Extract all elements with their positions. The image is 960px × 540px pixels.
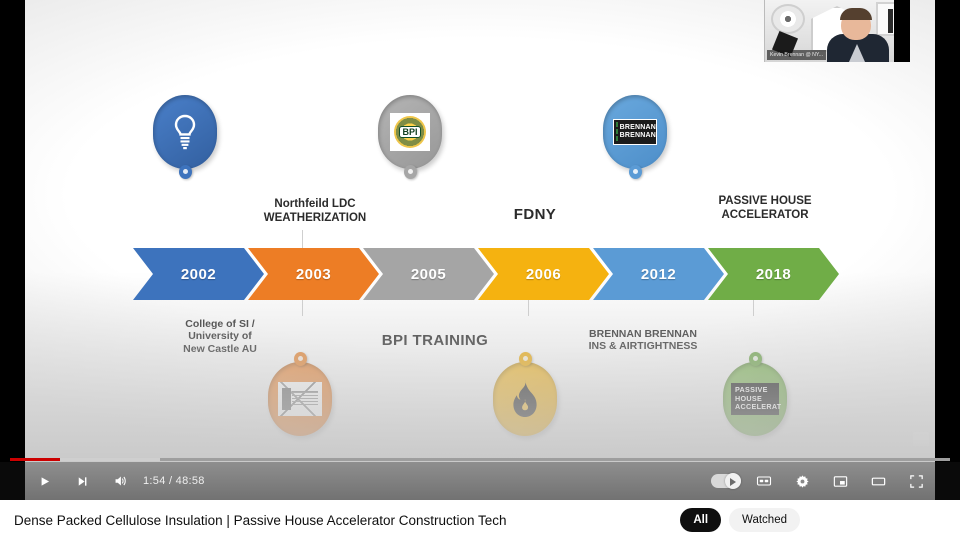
label-passive-house-accelerator: PASSIVE HOUSE ACCELERATOR	[675, 195, 855, 222]
marker-lightbulb	[153, 95, 217, 179]
timeline-year-label: 2006	[526, 266, 561, 283]
brennan-brennan-logo-icon: BRENNANBRENNAN	[611, 111, 659, 153]
passive-house-accelerator-logo-icon: PASSIVEHOUSEACCELERATOR	[729, 378, 781, 420]
marker-brennan-brennan: BRENNANBRENNAN	[603, 95, 667, 179]
presenter-name-label: Kevin Brennan @ NY...	[767, 50, 826, 60]
video-title[interactable]: Dense Packed Cellulose Insulation | Pass…	[14, 513, 507, 528]
video-meta-row: Dense Packed Cellulose Insulation | Pass…	[0, 500, 960, 540]
filter-chip-all[interactable]: All	[680, 508, 721, 532]
year-timeline: 200220032005200620122018	[133, 248, 839, 300]
marker-bpi: BPI	[378, 95, 442, 179]
label-bpi-training: BPI TRAINING	[355, 332, 515, 350]
tick-2006-bottom	[528, 300, 529, 316]
video-watermark	[913, 432, 929, 446]
label-fdny: FDNY	[465, 206, 605, 224]
theater-mode-button[interactable]	[859, 462, 897, 500]
timeline-year-label: 2003	[296, 266, 331, 283]
video-player[interactable]: BPI BRENNANBRENNAN	[0, 0, 960, 500]
volume-button[interactable]	[101, 462, 139, 500]
tick-2003-top	[302, 230, 303, 248]
label-college-of-si: College of SI / University of New Castle…	[130, 318, 310, 355]
presentation-slide: BPI BRENNANBRENNAN	[25, 0, 935, 462]
timeline-chevron-2002: 2002	[133, 248, 264, 300]
fullscreen-button[interactable]	[897, 462, 935, 500]
settings-gear-icon[interactable]	[783, 462, 821, 500]
label-northfield-ldc: Northfeild LDC WEATHERIZATION	[225, 198, 405, 225]
timeline-year-label: 2018	[756, 266, 791, 283]
timeline-chevron-2003: 2003	[248, 248, 379, 300]
filter-chip-watched[interactable]: Watched	[729, 508, 800, 532]
bpi-seal-text: BPI	[399, 126, 420, 138]
video-frame[interactable]: BPI BRENNANBRENNAN	[25, 0, 935, 462]
time-display: 1:54 / 48:58	[139, 475, 213, 487]
presenter-webcam-overlay: Kevin Brennan @ NY...	[764, 0, 910, 62]
tick-2018-bottom	[753, 300, 754, 316]
next-video-button[interactable]	[63, 462, 101, 500]
college-crest-icon	[277, 378, 323, 420]
progress-track[interactable]	[10, 458, 950, 461]
youtube-watch-page: BPI BRENNANBRENNAN	[0, 0, 960, 540]
timeline-chevron-2012: 2012	[593, 248, 724, 300]
marker-flame	[493, 352, 557, 436]
timeline-chevron-2006: 2006	[478, 248, 609, 300]
filter-chip-bar: AllWatched	[680, 508, 800, 532]
autoplay-toggle[interactable]	[707, 462, 745, 500]
progress-played	[10, 458, 60, 461]
label-brennan-brennan: BRENNAN BRENNAN INS & AIRTIGHTNESS	[553, 328, 733, 353]
timeline-year-label: 2002	[181, 266, 216, 283]
bpi-seal-logo-icon: BPI	[389, 111, 431, 153]
timeline-chevron-2005: 2005	[363, 248, 494, 300]
wall-art-circle-icon	[771, 4, 805, 34]
timeline-year-label: 2005	[411, 266, 446, 283]
marker-college	[268, 352, 332, 436]
play-button[interactable]	[25, 462, 63, 500]
timeline-year-label: 2012	[641, 266, 676, 283]
lightbulb-icon	[164, 111, 206, 153]
miniplayer-button[interactable]	[821, 462, 859, 500]
tick-2003-bottom	[302, 300, 303, 316]
timeline-chevron-2018: 2018	[708, 248, 839, 300]
player-controls: 1:54 / 48:58	[0, 462, 960, 500]
captions-button[interactable]	[745, 462, 783, 500]
marker-passive-house-accelerator: PASSIVEHOUSEACCELERATOR	[723, 352, 787, 436]
flame-icon	[504, 378, 546, 420]
presenter-figure	[827, 10, 889, 62]
